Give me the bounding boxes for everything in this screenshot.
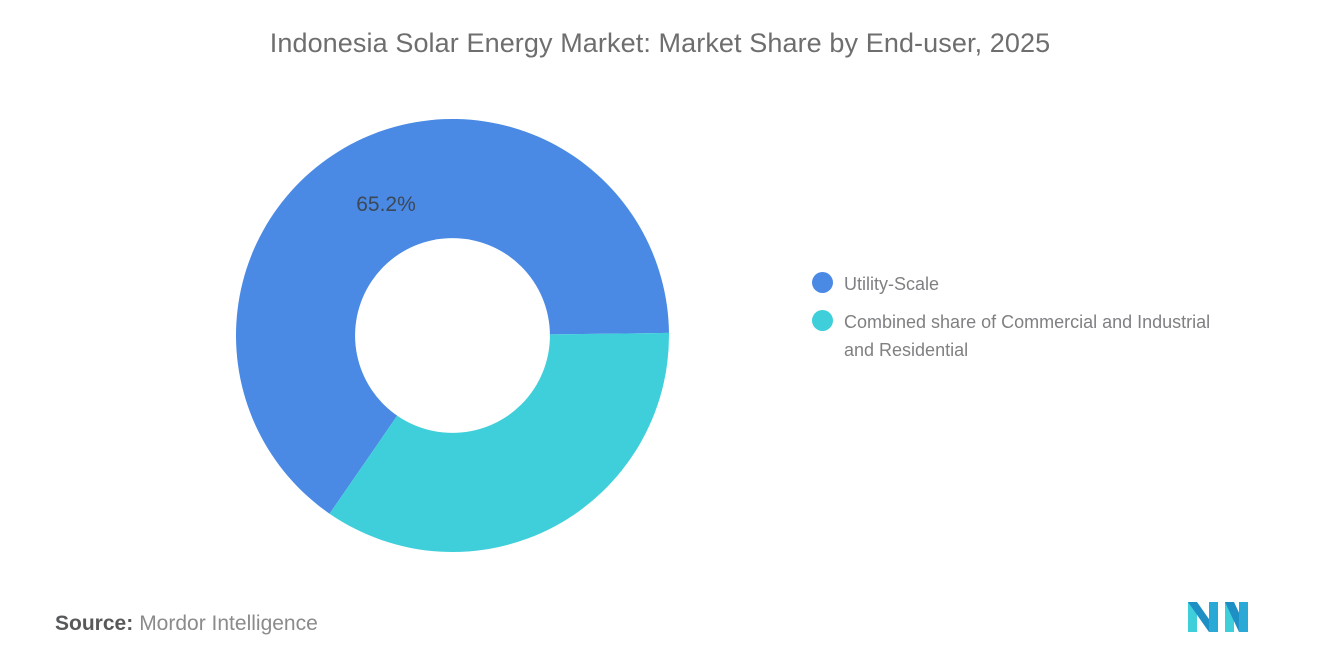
legend-item-combined-ci-residential[interactable]: Combined share of Commercial and Industr…: [812, 308, 1262, 364]
chart-legend: Utility-Scale Combined share of Commerci…: [812, 270, 1262, 374]
legend-marker-icon: [812, 272, 833, 293]
donut-center-hole: [355, 238, 550, 433]
slice-data-label-utility-scale: 65.2%: [336, 193, 436, 217]
page-title: Indonesia Solar Energy Market: Market Sh…: [0, 28, 1320, 59]
legend-item-label: Utility-Scale: [844, 270, 939, 298]
legend-item-label: Combined share of Commercial and Industr…: [844, 308, 1214, 364]
logo-svg: [1184, 598, 1252, 636]
mordor-intelligence-logo-icon: [1184, 598, 1252, 636]
donut-chart-svg: #slice-utility-scale, #slice-combined, #…: [236, 119, 669, 552]
source-attribution: Source:Mordor Intelligence: [55, 612, 318, 636]
source-value: Mordor Intelligence: [139, 612, 318, 635]
legend-marker-icon: [812, 310, 833, 331]
donut-chart: #slice-utility-scale, #slice-combined, #…: [236, 119, 669, 552]
legend-item-utility-scale[interactable]: Utility-Scale: [812, 270, 1262, 298]
source-label: Source:: [55, 612, 133, 635]
